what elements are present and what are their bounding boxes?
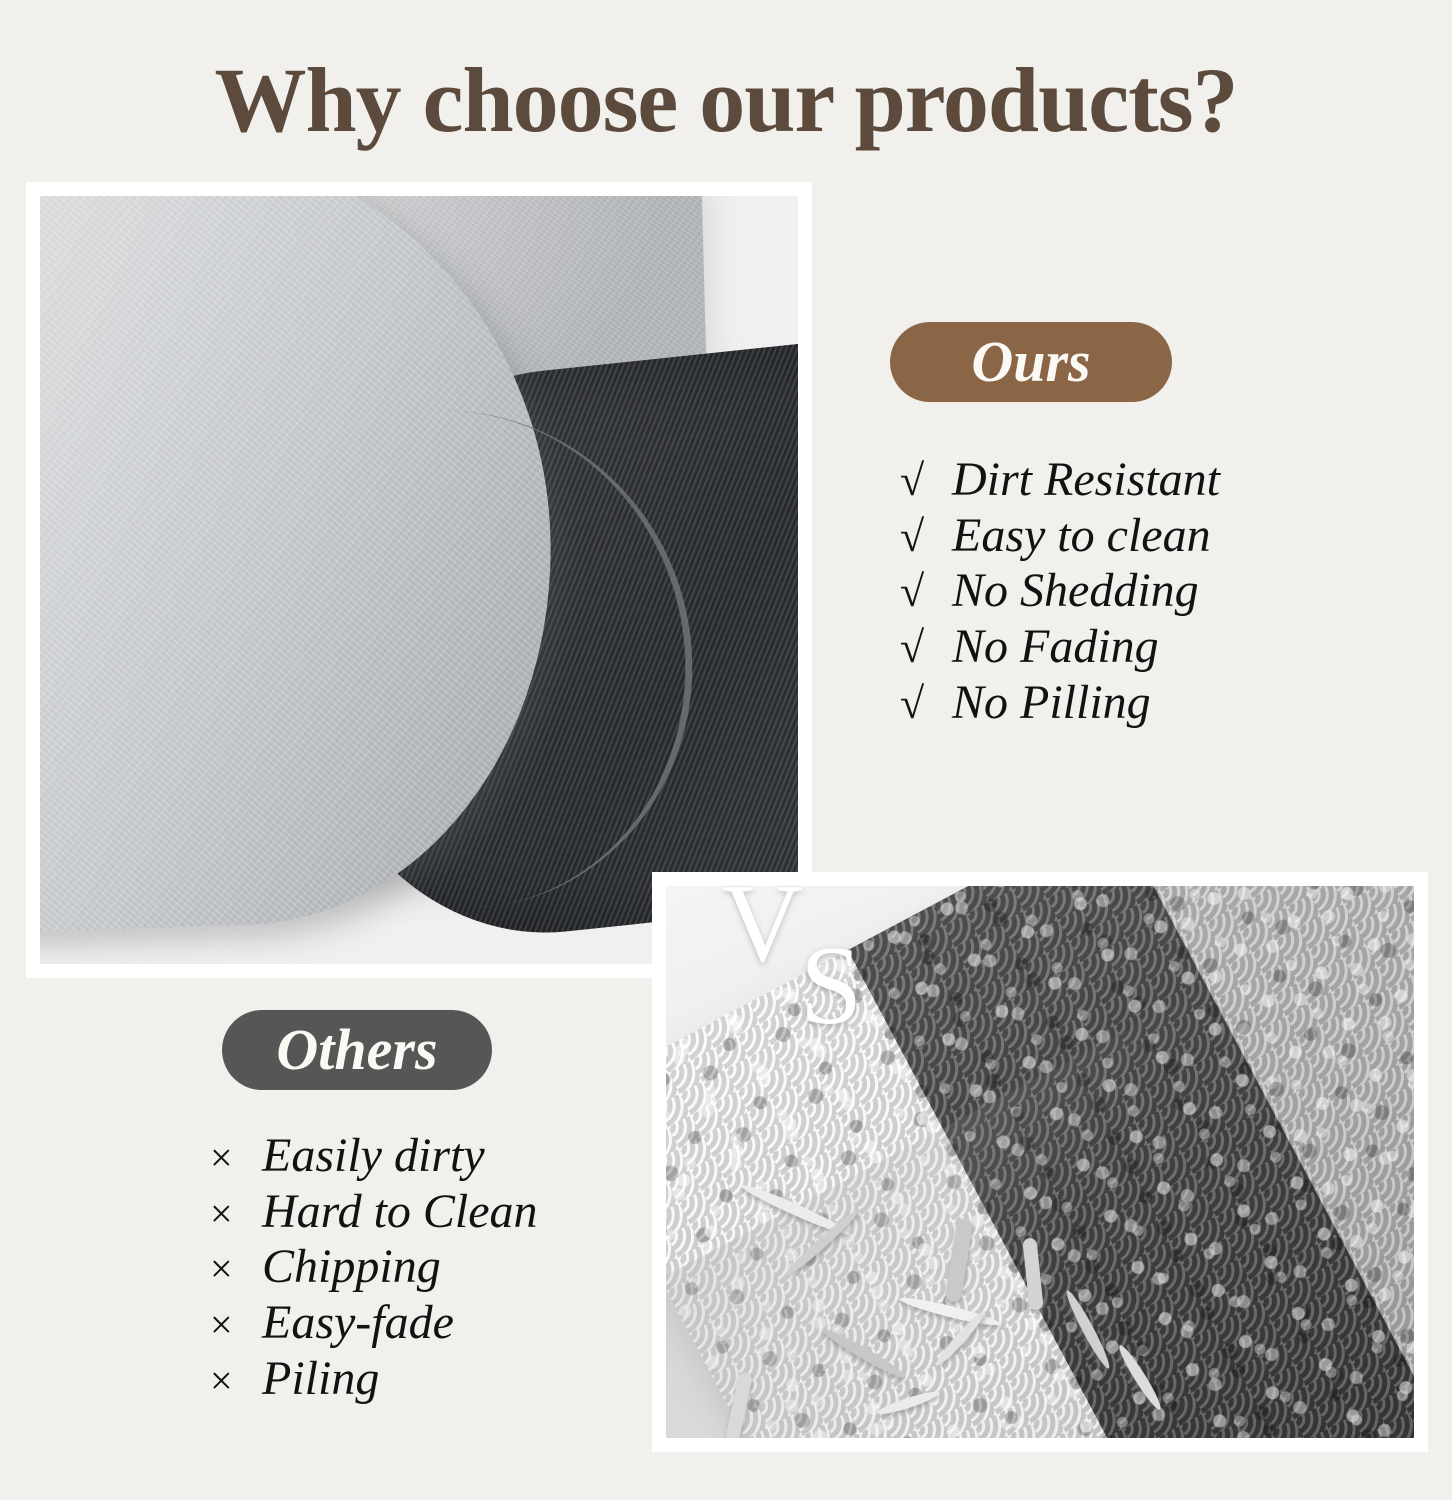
others-badge: Others: [222, 1010, 492, 1090]
check-icon: √: [900, 566, 952, 617]
cross-icon: ×: [210, 1302, 262, 1348]
others-product-photo: [652, 872, 1428, 1452]
ours-product-photo: [26, 182, 812, 978]
page-title: Why choose our products?: [0, 52, 1452, 149]
ours-badge: Ours: [890, 322, 1172, 402]
ours-feature-label: Easy to clean: [952, 508, 1211, 564]
others-feature-item: × Hard to Clean: [210, 1184, 538, 1240]
ours-feature-item: √ Dirt Resistant: [900, 452, 1220, 508]
others-feature-item: × Piling: [210, 1351, 538, 1407]
ours-feature-label: No Pilling: [952, 675, 1151, 731]
check-icon: √: [900, 622, 952, 673]
check-icon: √: [900, 511, 952, 562]
cross-icon: ×: [210, 1135, 262, 1181]
ours-feature-item: √ No Pilling: [900, 675, 1220, 731]
others-feature-label: Piling: [262, 1351, 379, 1407]
others-feature-item: × Easily dirty: [210, 1128, 538, 1184]
ours-feature-item: √ No Shedding: [900, 563, 1220, 619]
cross-icon: ×: [210, 1191, 262, 1237]
ours-feature-item: √ No Fading: [900, 619, 1220, 675]
comparison-infographic: Why choose our products?: [0, 0, 1452, 1500]
ours-feature-label: Dirt Resistant: [952, 452, 1220, 508]
check-icon: √: [900, 455, 952, 506]
ours-feature-list: √ Dirt Resistant √ Easy to clean √ No Sh…: [900, 452, 1220, 730]
others-feature-label: Chipping: [262, 1239, 441, 1295]
ours-feature-label: No Fading: [952, 619, 1159, 675]
cross-icon: ×: [210, 1246, 262, 1292]
ours-feature-item: √ Easy to clean: [900, 508, 1220, 564]
others-photo-inner: [666, 886, 1414, 1438]
others-feature-label: Easily dirty: [262, 1128, 485, 1184]
others-feature-item: × Easy-fade: [210, 1295, 538, 1351]
ours-feature-label: No Shedding: [952, 563, 1199, 619]
check-icon: √: [900, 678, 952, 729]
others-feature-list: × Easily dirty × Hard to Clean × Chippin…: [210, 1128, 538, 1406]
others-feature-label: Easy-fade: [262, 1295, 454, 1351]
cross-icon: ×: [210, 1358, 262, 1404]
others-feature-item: × Chipping: [210, 1239, 538, 1295]
ours-photo-inner: [40, 196, 798, 964]
others-feature-label: Hard to Clean: [262, 1184, 538, 1240]
